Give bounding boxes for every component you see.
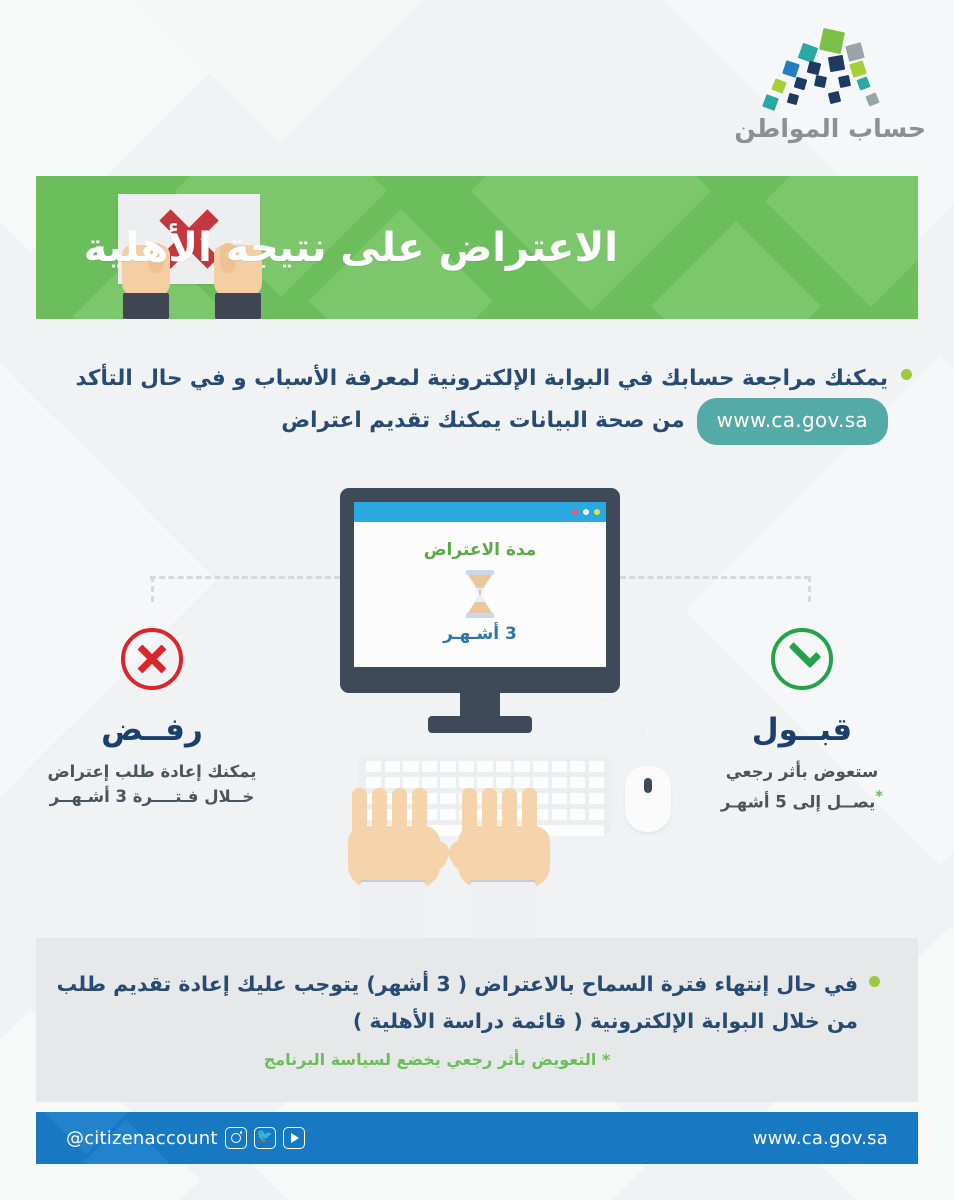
intro-line-2-text: من صحة البيانات يمكنك تقديم اعتراض <box>281 402 684 440</box>
brand-logo: حساب المواطن <box>736 28 926 143</box>
accept-line-2-text: يصــل إلى 5 أشهـر <box>721 792 875 811</box>
page-title: الاعتراض على نتيجة الأهلية <box>84 225 618 271</box>
intro-block: يمكنك مراجعة حسابك في البوابة الإلكتروني… <box>36 360 918 445</box>
title-banner: الاعتراض على نتيجة الأهلية <box>36 176 918 319</box>
monitor-screen: مدة الاعتراض 3 أشـهـر <box>354 502 606 667</box>
connector-stub-left <box>151 576 154 602</box>
connector-line-right <box>620 576 810 579</box>
reject-heading: رفــض <box>22 712 282 748</box>
instagram-icon[interactable] <box>225 1127 247 1149</box>
footer-website-link[interactable]: www.ca.gov.sa <box>753 1128 888 1149</box>
objection-period-label: مدة الاعتراض <box>354 540 606 560</box>
connector-line-left <box>150 576 340 579</box>
window-dot-minimize <box>583 509 589 515</box>
intro-line-2: www.ca.gov.sa من صحة البيانات يمكنك تقدي… <box>36 398 918 445</box>
computer-mouse-icon <box>625 766 671 832</box>
infographic-page: حساب المواطن الاعتراض على نتيجة الأهلية … <box>0 0 954 1200</box>
note-box: في حال إنتهاء فترة السماح بالاعتراض ( 3 … <box>36 938 918 1102</box>
note-line-1: في حال إنتهاء فترة السماح بالاعتراض ( 3 … <box>76 966 858 1003</box>
browser-titlebar <box>354 502 606 522</box>
accept-footnote-star: * <box>875 787 883 805</box>
note-bullet-icon <box>869 976 880 987</box>
window-dot-close <box>572 509 578 515</box>
portal-url-pill[interactable]: www.ca.gov.sa <box>697 398 888 445</box>
footer-social-group: @citizenaccount <box>66 1127 305 1149</box>
reject-description: يمكنك إعادة طلب إعتراض خــلال فـتــــرة … <box>22 760 282 810</box>
monitor-stand-base <box>428 716 532 733</box>
result-reject: رفــض يمكنك إعادة طلب إعتراض خــلال فـتـ… <box>22 628 282 810</box>
computer-illustration: مدة الاعتراض 3 أشـهـر <box>340 488 620 938</box>
reject-line-2: خــلال فـتــــرة 3 أشـهــر <box>22 785 282 810</box>
connector-stub-right <box>808 576 811 602</box>
accept-heading: قبــول <box>672 712 932 748</box>
note-line-2: من خلال البوابة الإلكترونية ( قائمة دراس… <box>76 1003 858 1040</box>
logo-wordmark: حساب المواطن <box>736 114 926 143</box>
window-dot-maximize <box>594 509 600 515</box>
objection-period-value: 3 أشـهـر <box>354 624 606 644</box>
youtube-icon[interactable] <box>283 1127 305 1149</box>
hourglass-icon <box>463 570 497 618</box>
monitor-frame: مدة الاعتراض 3 أشـهـر <box>340 488 620 693</box>
footer-social-handle: @citizenaccount <box>66 1128 218 1149</box>
logo-arch-icon <box>751 28 911 110</box>
result-accept: قبــول ستعوض بأثر رجعي *يصــل إلى 5 أشهـ… <box>672 628 932 815</box>
intro-bullet-icon <box>901 369 912 380</box>
accept-description: ستعوض بأثر رجعي *يصــل إلى 5 أشهـر <box>672 760 932 815</box>
footer-bar: www.ca.gov.sa @citizenaccount <box>36 1112 918 1164</box>
typing-hand-left-icon <box>346 788 442 938</box>
accept-line-2: *يصــل إلى 5 أشهـر <box>672 785 932 815</box>
circle-check-icon <box>771 628 833 690</box>
intro-line-1: يمكنك مراجعة حسابك في البوابة الإلكتروني… <box>36 360 918 398</box>
circle-x-icon <box>121 628 183 690</box>
typing-hand-right-icon <box>456 788 552 938</box>
reject-line-1: يمكنك إعادة طلب إعتراض <box>22 760 282 785</box>
accept-line-1: ستعوض بأثر رجعي <box>672 760 932 785</box>
note-footnote: * التعويض بأثر رجعي يخضع لسياسة البرنامج <box>76 1050 858 1069</box>
twitter-icon[interactable] <box>254 1127 276 1149</box>
